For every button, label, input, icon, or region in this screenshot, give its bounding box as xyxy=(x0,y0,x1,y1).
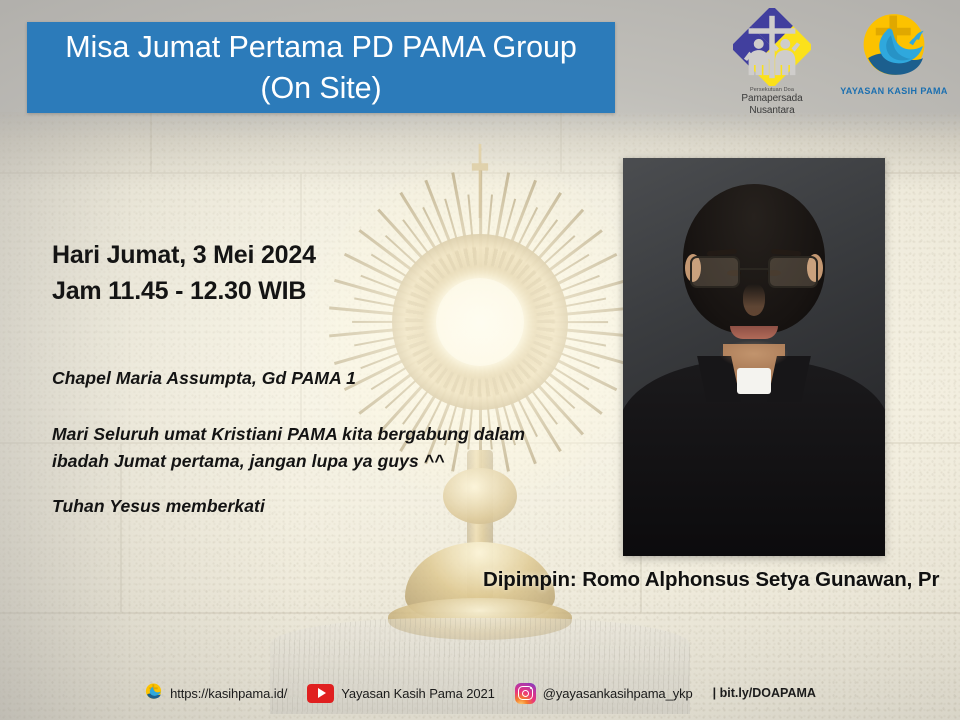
footer-website[interactable]: https://kasihpama.id/ xyxy=(144,682,287,704)
logo-group: Persekutuan Doa Pamapersada Nusantara xyxy=(718,8,948,116)
glasses-bridge xyxy=(740,268,768,270)
monstrance-bead-ring xyxy=(392,234,568,410)
yayasan-kasih-pama-logo-icon xyxy=(856,8,932,84)
yayasan-kasih-pama-logo-block: YAYASAN KASIH PAMA xyxy=(840,8,948,96)
glasses-lens-left xyxy=(690,256,740,288)
footer-instagram-label: @yayasankasihpama_ykp xyxy=(543,686,693,701)
portrait-chin xyxy=(719,340,789,368)
priest-portrait-photo xyxy=(623,158,885,556)
event-venue: Chapel Maria Assumpta, Gd PAMA 1 xyxy=(52,368,356,389)
ykp-logo-caption: YAYASAN KASIH PAMA xyxy=(840,86,948,96)
pd-logo-caption-large: Pamapersada Nusantara xyxy=(718,93,826,116)
footer-youtube-label: Yayasan Kasih Pama 2021 xyxy=(341,686,495,701)
left-gray-overlay xyxy=(0,112,300,720)
youtube-icon xyxy=(307,684,334,703)
event-invitation: Mari Seluruh umat Kristiani PAMA kita be… xyxy=(52,421,592,474)
footer-youtube[interactable]: Yayasan Kasih Pama 2021 xyxy=(307,684,495,703)
event-date-time: Hari Jumat, 3 Mei 2024 Jam 11.45 - 12.30… xyxy=(52,238,316,309)
portrait-roman-collar xyxy=(737,368,771,394)
event-blessing: Tuhan Yesus memberkati xyxy=(52,496,265,517)
portrait-nose xyxy=(743,284,765,316)
footer-instagram[interactable]: @yayasankasihpama_ykp xyxy=(515,683,693,704)
page-title: Misa Jumat Pertama PD PAMA Group (On Sit… xyxy=(65,27,577,108)
monstrance-graphic xyxy=(300,150,660,690)
glasses-lens-right xyxy=(768,256,818,288)
ykp-mini-logo-icon xyxy=(144,682,163,704)
footer-website-label: https://kasihpama.id/ xyxy=(170,686,287,701)
instagram-icon xyxy=(515,683,536,704)
pd-pamapersada-logo-block: Persekutuan Doa Pamapersada Nusantara xyxy=(718,8,826,116)
poster-canvas: Misa Jumat Pertama PD PAMA Group (On Sit… xyxy=(0,0,960,720)
title-banner: Misa Jumat Pertama PD PAMA Group (On Sit… xyxy=(27,22,615,113)
footer-bitly-label[interactable]: | bit.ly/DOAPAMA xyxy=(713,686,816,700)
pd-pamapersada-nusantara-logo-icon xyxy=(733,8,811,86)
celebrant-line: Dipimpin: Romo Alphonsus Setya Gunawan, … xyxy=(483,568,939,592)
footer-bar: https://kasihpama.id/ Yayasan Kasih Pama… xyxy=(0,682,960,704)
portrait-mouth xyxy=(730,326,778,339)
monstrance-knob xyxy=(443,468,517,524)
